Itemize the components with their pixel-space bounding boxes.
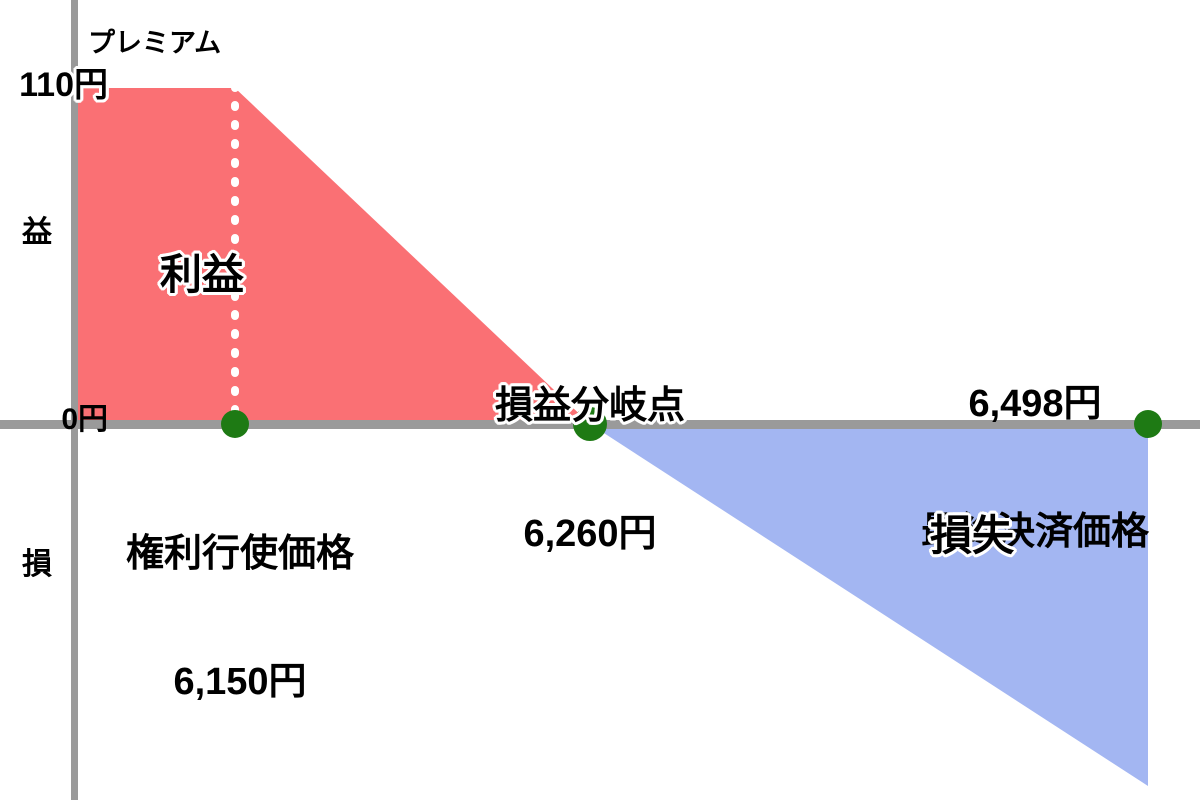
breakeven-point-annotation: 損益分岐点 6,260円 — [440, 300, 740, 640]
strike-price-value: 6,150円 — [60, 661, 420, 704]
strike-price-annotation: 権利行使価格 6,150円 — [60, 448, 420, 788]
final-settlement-price-annotation: 6,498円 最終決済価格 — [870, 298, 1200, 638]
y-axis-loss-label: 損 — [22, 548, 52, 582]
final-settlement-price-value: 6,498円 — [870, 383, 1200, 426]
breakeven-point-title: 損益分岐点 — [440, 385, 740, 428]
profit-area-label: 利益 — [160, 251, 244, 298]
y-axis-tick-zero: 0円 — [0, 403, 108, 437]
premium-label: プレミアム — [88, 28, 221, 58]
final-settlement-price-title: 最終決済価格 — [870, 511, 1200, 554]
y-axis-profit-label: 益 — [22, 216, 52, 250]
marker-strike-price — [221, 410, 249, 438]
breakeven-point-value: 6,260円 — [440, 513, 740, 556]
y-axis-tick-top: 110円 — [0, 66, 108, 104]
strike-price-title: 権利行使価格 — [60, 533, 420, 576]
chart-canvas: プレミアム 110円 0円 益 損 利益 権利行使価格 6,150円 損益分岐点… — [0, 0, 1200, 800]
loss-area-label: 損失 — [930, 512, 1014, 559]
